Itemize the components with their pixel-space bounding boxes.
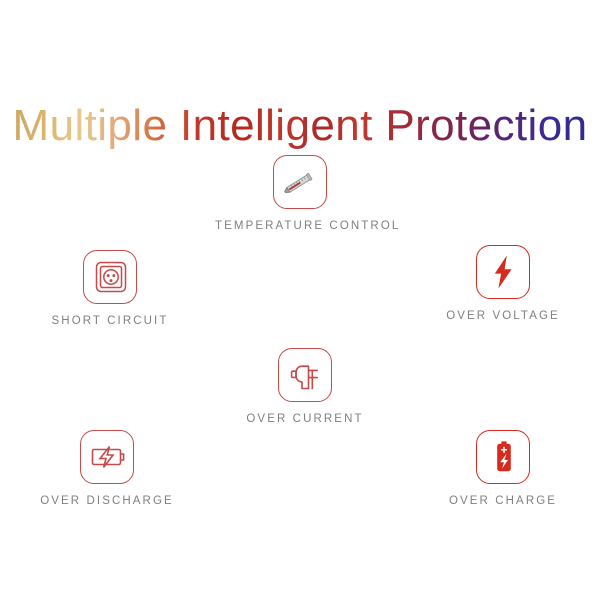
feature-label-short-circuit: SHORT CIRCUIT bbox=[25, 315, 195, 327]
battery-bolt-icon bbox=[81, 431, 133, 483]
icon-box-temperature-control bbox=[273, 155, 327, 209]
feature-over-current: OVER CURRENT bbox=[220, 348, 390, 425]
feature-temperature-control: TEMPERATURE CONTROL bbox=[215, 155, 385, 232]
feature-label-temperature-control: TEMPERATURE CONTROL bbox=[215, 220, 385, 232]
icon-box-over-charge bbox=[476, 430, 530, 484]
feature-label-over-voltage: OVER VOLTAGE bbox=[418, 310, 588, 322]
page-title: Multiple Intelligent Protection bbox=[0, 101, 600, 151]
icon-box-over-discharge bbox=[80, 430, 134, 484]
feature-over-discharge: OVER DISCHARGE bbox=[22, 430, 192, 507]
icon-box-over-current bbox=[278, 348, 332, 402]
icon-box-over-voltage bbox=[476, 245, 530, 299]
feature-over-charge: OVER CHARGE bbox=[418, 430, 588, 507]
thermometer-icon bbox=[274, 156, 326, 208]
power-plug-icon bbox=[279, 349, 331, 401]
feature-label-over-discharge: OVER DISCHARGE bbox=[22, 495, 192, 507]
feature-over-voltage: OVER VOLTAGE bbox=[418, 245, 588, 322]
lightning-bolt-icon bbox=[477, 246, 529, 298]
feature-label-over-current: OVER CURRENT bbox=[220, 413, 390, 425]
protection-infographic: Multiple Intelligent Protection bbox=[0, 0, 600, 600]
power-socket-icon bbox=[84, 251, 136, 303]
battery-plus-icon bbox=[477, 431, 529, 483]
feature-short-circuit: SHORT CIRCUIT bbox=[25, 250, 195, 327]
icon-box-short-circuit bbox=[83, 250, 137, 304]
feature-label-over-charge: OVER CHARGE bbox=[418, 495, 588, 507]
